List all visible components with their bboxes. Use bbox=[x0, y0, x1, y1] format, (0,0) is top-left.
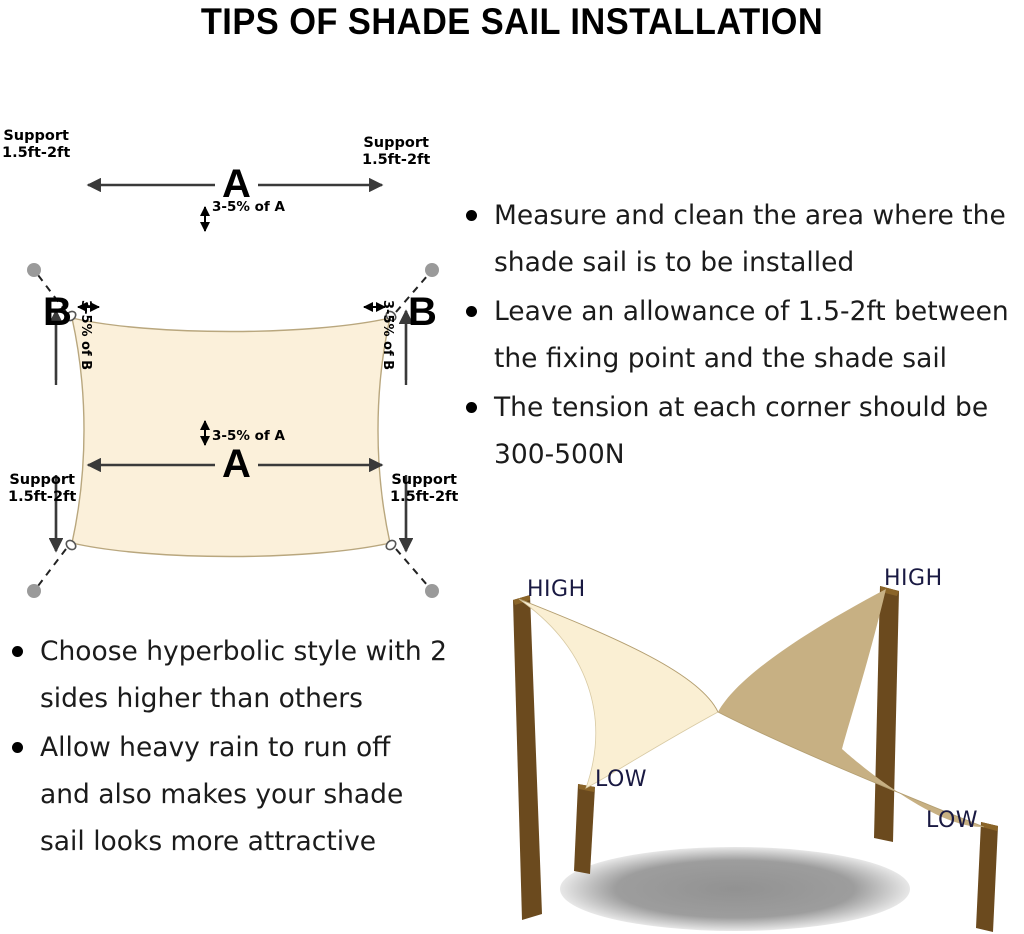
support-label-bottom-right: Support 1.5ft-2ft bbox=[390, 472, 458, 506]
curvature-label-bottom: 3-5% of A bbox=[212, 428, 285, 444]
post-left-low bbox=[574, 784, 595, 874]
support-value: 1.5ft-2ft bbox=[390, 489, 458, 505]
bullet-dot-icon bbox=[12, 646, 23, 657]
tip-item: The tension at each corner should be 300… bbox=[462, 384, 1024, 478]
tip-item: Measure and clean the area where the sha… bbox=[462, 192, 1024, 286]
bullet-dot-icon bbox=[12, 742, 23, 753]
sail-panel-cream bbox=[519, 599, 718, 788]
support-title: Support bbox=[3, 128, 69, 144]
support-title: Support bbox=[391, 472, 457, 488]
tip-item: Leave an allowance of 1.5-2ft between th… bbox=[462, 288, 1024, 382]
tip-item: Choose hyperbolic style with 2 sides hig… bbox=[8, 628, 448, 722]
post-right-low bbox=[976, 822, 998, 932]
bullet-dot-icon bbox=[466, 210, 477, 221]
support-value: 1.5ft-2ft bbox=[2, 145, 70, 161]
support-label-top-right: Support 1.5ft-2ft bbox=[362, 135, 430, 169]
page-title: TIPS OF SHADE SAIL INSTALLATION bbox=[36, 0, 988, 44]
support-value: 1.5ft-2ft bbox=[362, 152, 430, 168]
corner-label-post-left-high: HIGH bbox=[527, 577, 586, 602]
tip-text: Choose hyperbolic style with 2 sides hig… bbox=[40, 628, 448, 722]
tip-text: Measure and clean the area where the sha… bbox=[494, 192, 1024, 286]
support-label-bottom-left: Support 1.5ft-2ft bbox=[8, 472, 76, 506]
curvature-label-left: 3-5% of B bbox=[78, 300, 93, 370]
tips-list-right: Measure and clean the area where the sha… bbox=[462, 192, 1024, 480]
ground-shadow bbox=[560, 847, 910, 931]
support-title: Support bbox=[9, 472, 75, 488]
tip-text: The tension at each corner should be 300… bbox=[494, 384, 1024, 478]
tips-list-bottom: Choose hyperbolic style with 2 sides hig… bbox=[8, 628, 448, 867]
dimension-label-b-right: B bbox=[408, 290, 437, 335]
support-value: 1.5ft-2ft bbox=[8, 489, 76, 505]
corner-label-post-right-high: HIGH bbox=[884, 566, 943, 591]
post-right-high bbox=[874, 586, 899, 842]
corner-label-post-left-low: LOW bbox=[595, 767, 647, 792]
support-label-top-left: Support 1.5ft-2ft bbox=[2, 128, 70, 162]
tip-text: Leave an allowance of 1.5-2ft between th… bbox=[494, 288, 1024, 382]
support-title: Support bbox=[363, 135, 429, 151]
dimension-label-b-left: B bbox=[43, 290, 72, 335]
hyperbolic-sail-diagram bbox=[450, 544, 1024, 934]
tip-text: Allow heavy rain to run off and also mak… bbox=[40, 724, 448, 865]
bullet-dot-icon bbox=[466, 402, 477, 413]
corner-label-post-right-low: LOW bbox=[926, 808, 978, 833]
bullet-dot-icon bbox=[466, 306, 477, 317]
post-left-high bbox=[513, 595, 542, 920]
dimension-label-a-bottom: A bbox=[222, 442, 251, 487]
curvature-label-right: 3-5% of B bbox=[380, 300, 395, 370]
tip-item: Allow heavy rain to run off and also mak… bbox=[8, 724, 448, 865]
curvature-label-top: 3-5% of A bbox=[212, 199, 285, 215]
